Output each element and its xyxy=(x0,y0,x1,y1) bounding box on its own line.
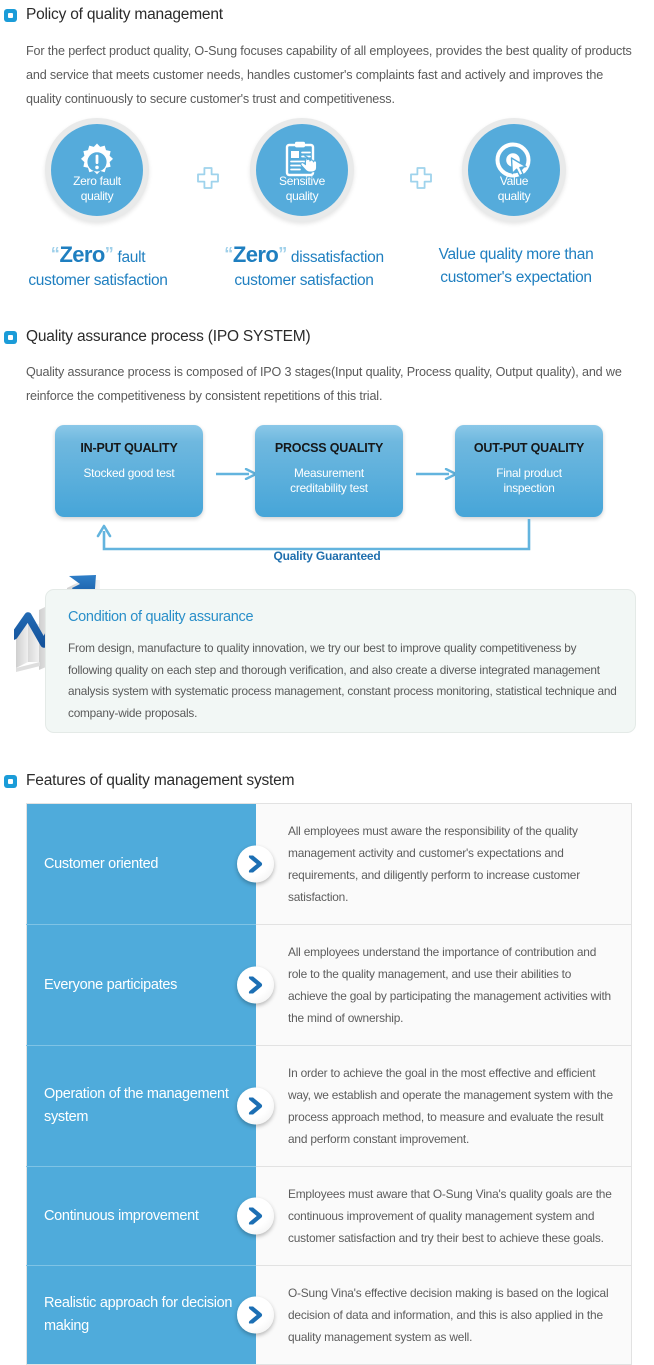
circle-label-line1: Zero fault xyxy=(73,174,121,188)
ipo-stage-sub: Measurement creditability test xyxy=(255,466,403,496)
circle-label-line1: Sensitive xyxy=(279,174,325,188)
chevron-right-icon[interactable] xyxy=(237,1297,274,1334)
quote-close-mark: ” xyxy=(278,244,287,264)
feature-name-cell: Customer oriented xyxy=(27,804,257,925)
chevron-right-icon[interactable] xyxy=(237,1088,274,1125)
condition-body: From design, manufacture to quality inno… xyxy=(68,638,623,724)
features-table: Customer oriented All employees must awa… xyxy=(26,803,632,1365)
section-bullet-icon xyxy=(4,775,17,788)
page-title: Policy of quality management xyxy=(26,6,223,24)
caption-rest: Value quality more than xyxy=(439,246,594,263)
chevron-right-icon[interactable] xyxy=(237,1198,274,1235)
circle-label-line2: quality xyxy=(81,189,114,203)
feature-name: Everyone participates xyxy=(44,977,177,993)
assurance-title: Quality assurance process (IPO SYSTEM) xyxy=(26,328,310,346)
table-row: Continuous improvement Employees must aw… xyxy=(27,1167,632,1266)
ipo-stage-sub: Final product inspection xyxy=(455,466,603,496)
ipo-stage-process: PROCSS QUALITY Measurement creditability… xyxy=(255,425,403,517)
quote-open-mark: “ xyxy=(224,244,233,264)
feature-name-cell: Operation of the management system xyxy=(27,1046,257,1167)
circle-badge: Sensitive quality xyxy=(250,118,354,222)
caption-rest: dissatisfaction xyxy=(287,249,384,266)
circle-caption-1: “Zero” fault customer satisfaction xyxy=(0,242,213,293)
section-bullet-icon xyxy=(4,331,17,344)
table-row: Realistic approach for decision making O… xyxy=(27,1266,632,1365)
table-row: Everyone participates All employees unde… xyxy=(27,925,632,1046)
policy-paragraph: For the perfect product quality, O-Sung … xyxy=(26,39,632,111)
feature-name-cell: Everyone participates xyxy=(27,925,257,1046)
ipo-sub-line1: Stocked good test xyxy=(83,466,174,480)
feature-name: Customer oriented xyxy=(44,856,158,872)
ipo-stage-sub: Stocked good test xyxy=(55,466,203,481)
section-bullet-icon xyxy=(4,9,17,22)
feature-description: All employees must aware the responsibil… xyxy=(256,804,632,925)
feature-name: Operation of the management system xyxy=(44,1086,229,1125)
caption-rest: fault xyxy=(113,249,145,266)
plus-icon xyxy=(407,166,435,194)
ipo-stage-title: PROCSS QUALITY xyxy=(255,441,403,455)
feature-name-cell: Realistic approach for decision making xyxy=(27,1266,257,1365)
circle-label-line1: Value xyxy=(500,174,528,188)
circle-item-sensitive: Sensitive quality xyxy=(250,118,354,222)
ipo-sub-line2: creditability test xyxy=(290,481,368,495)
section-header-policy: Policy of quality management xyxy=(4,6,223,24)
feature-description: O-Sung Vina's effective decision making … xyxy=(256,1266,632,1365)
caption-line2: customer satisfaction xyxy=(0,268,213,293)
flow-arrow-icon xyxy=(416,467,458,479)
flow-arrow-icon xyxy=(216,467,258,479)
circle-badge: Zero fault quality xyxy=(45,118,149,222)
caption-line2: customer satisfaction xyxy=(189,268,419,293)
ipo-stage-output: OUT-PUT QUALITY Final product inspection xyxy=(455,425,603,517)
chevron-right-icon[interactable] xyxy=(237,967,274,1004)
feature-name: Continuous improvement xyxy=(44,1208,199,1224)
circle-label: Sensitive quality xyxy=(256,174,348,204)
circle-caption-2: “Zero” dissatisfaction customer satisfac… xyxy=(189,242,419,293)
circle-item-zero-fault: Zero fault quality xyxy=(45,118,149,222)
ipo-stage-title: OUT-PUT QUALITY xyxy=(455,441,603,455)
ipo-sub-line2: inspection xyxy=(503,481,554,495)
circle-badge: Value quality xyxy=(462,118,566,222)
ipo-stage-input: IN-PUT QUALITY Stocked good test xyxy=(55,425,203,517)
condition-title: Condition of quality assurance xyxy=(68,609,253,625)
caption-line2: customer's expectation xyxy=(401,265,631,290)
ipo-sub-line1: Final product xyxy=(496,466,562,480)
circle-label: Value quality xyxy=(468,174,560,204)
feature-description: Employees must aware that O-Sung Vina's … xyxy=(256,1167,632,1266)
feature-description: All employees understand the importance … xyxy=(256,925,632,1046)
policy-circles-group: Zero fault quality xyxy=(26,118,632,293)
features-title: Features of quality management system xyxy=(26,772,294,790)
circle-label-line2: quality xyxy=(498,189,531,203)
section-header-features: Features of quality management system xyxy=(4,772,294,790)
caption-emphasis: Zero xyxy=(59,242,104,267)
feature-name-cell: Continuous improvement xyxy=(27,1167,257,1266)
section-header-assurance: Quality assurance process (IPO SYSTEM) xyxy=(4,328,310,346)
circle-label: Zero fault quality xyxy=(51,174,143,204)
assurance-paragraph: Quality assurance process is composed of… xyxy=(26,360,646,408)
plus-icon xyxy=(194,166,222,194)
table-row: Customer oriented All employees must awa… xyxy=(27,804,632,925)
chevron-right-icon[interactable] xyxy=(237,846,274,883)
ipo-stage-title: IN-PUT QUALITY xyxy=(55,441,203,455)
circle-label-line2: quality xyxy=(286,189,319,203)
caption-emphasis: Zero xyxy=(233,242,278,267)
circle-caption-3: Value quality more than customer's expec… xyxy=(401,242,631,290)
ipo-sub-line1: Measurement xyxy=(294,466,364,480)
feature-description: In order to achieve the goal in the most… xyxy=(256,1046,632,1167)
circle-item-value: Value quality xyxy=(462,118,566,222)
feature-name: Realistic approach for decision making xyxy=(44,1295,232,1334)
table-row: Operation of the management system In or… xyxy=(27,1046,632,1167)
